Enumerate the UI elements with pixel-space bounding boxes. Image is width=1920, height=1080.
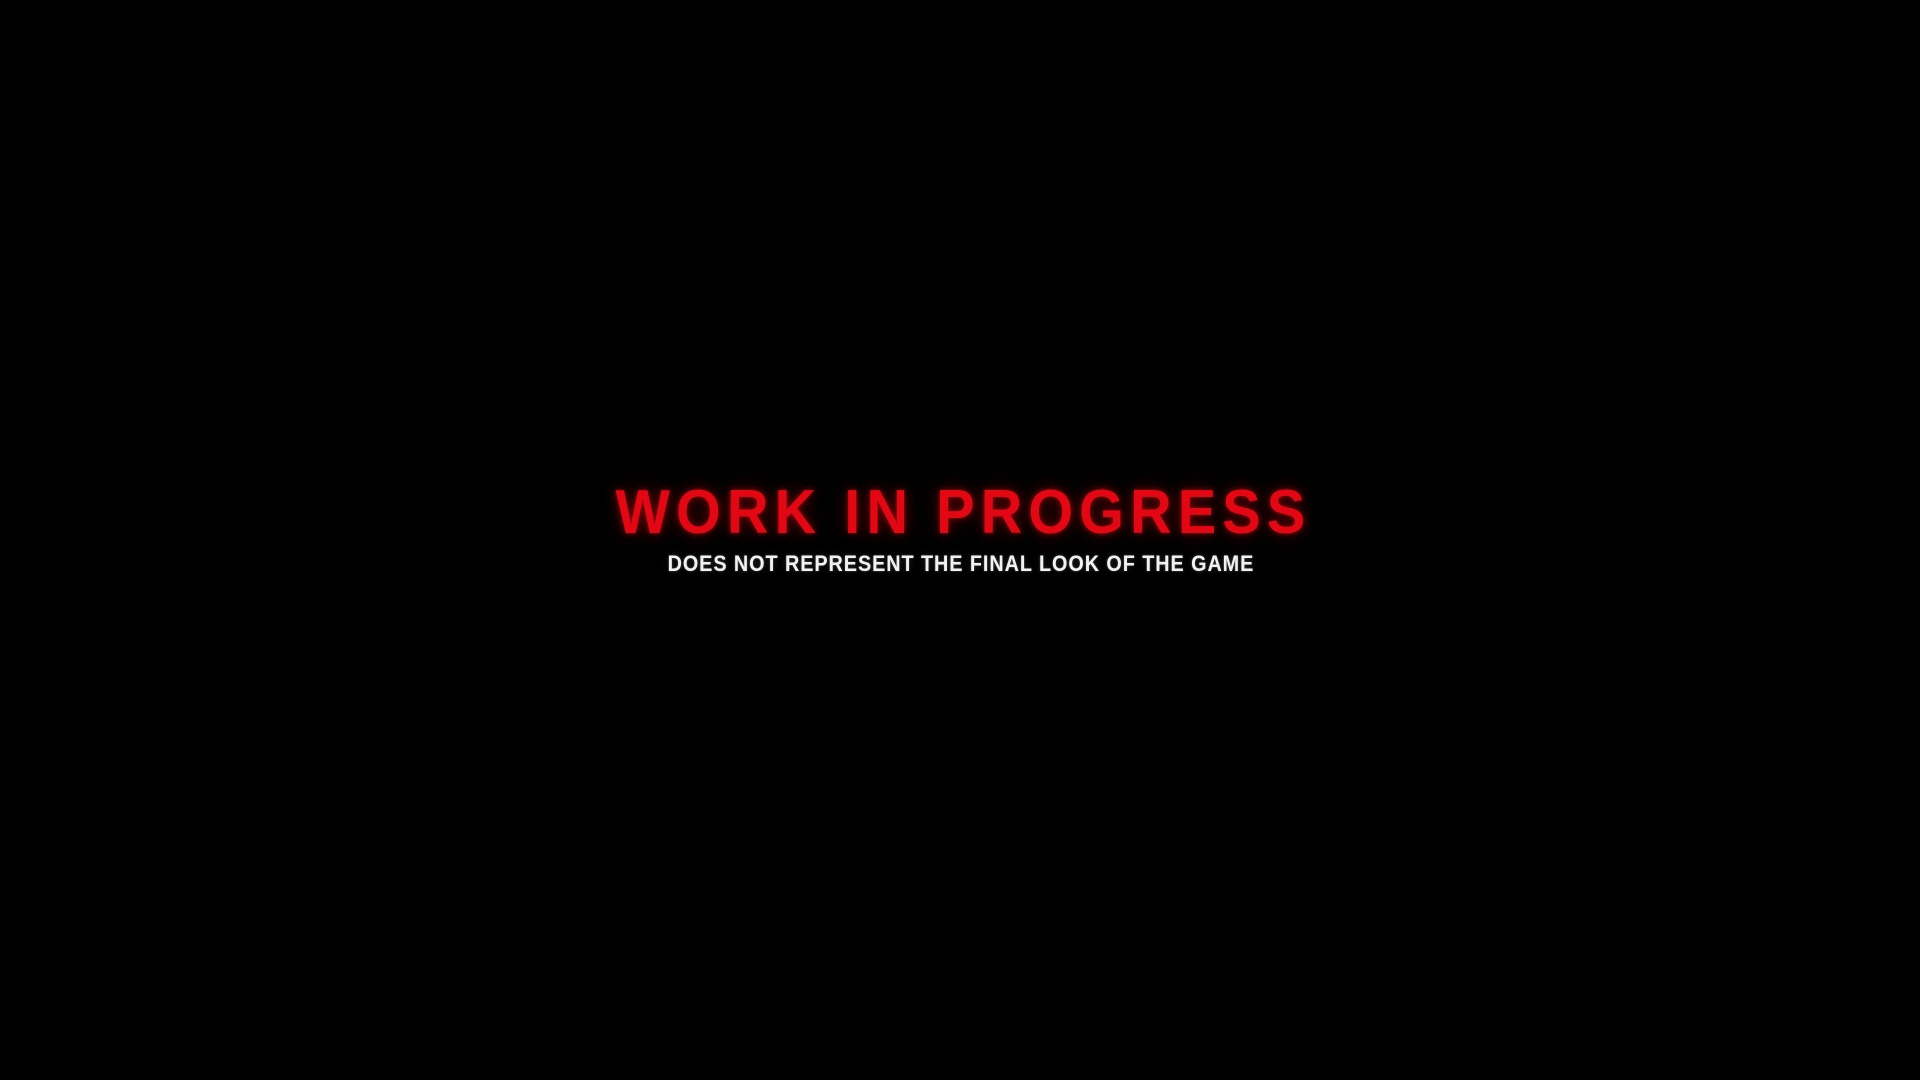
work-in-progress-disclaimer: DOES NOT REPRESENT THE FINAL LOOK OF THE… xyxy=(666,552,1254,576)
work-in-progress-notice: WORK IN PROGRESS DOES NOT REPRESENT THE … xyxy=(0,482,1920,576)
game-screen: WORK IN PROGRESS DOES NOT REPRESENT THE … xyxy=(0,0,1920,1080)
work-in-progress-headline: WORK IN PROGRESS xyxy=(609,482,1311,544)
